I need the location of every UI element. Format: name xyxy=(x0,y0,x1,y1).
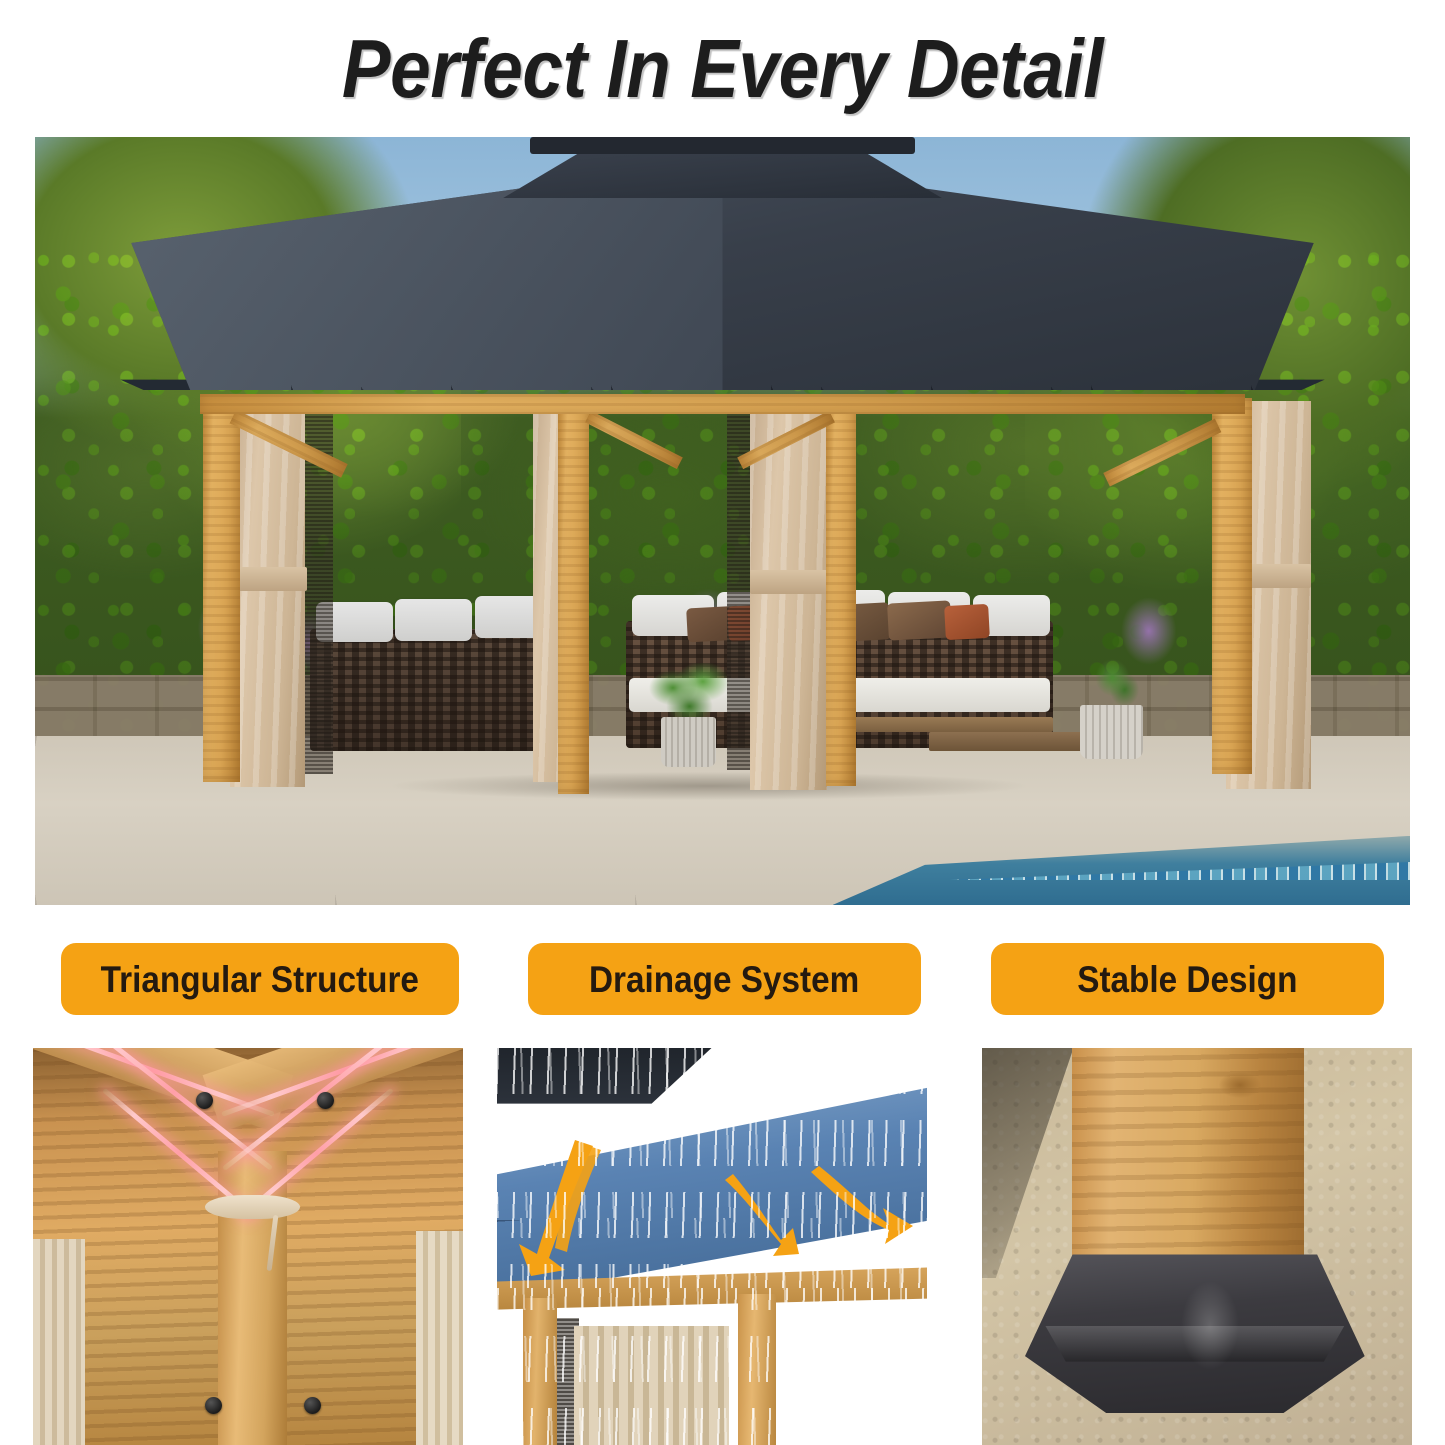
potted-plant-foliage xyxy=(648,663,731,724)
base-plate-highlight xyxy=(1171,1278,1248,1397)
fabric-tie-knot xyxy=(205,1195,300,1219)
accent-pillow xyxy=(887,601,952,641)
gazebo-post xyxy=(558,402,590,794)
curtain-tieback xyxy=(750,570,827,594)
gazebo-scene xyxy=(35,137,1410,905)
feature-badge-drainage-system[interactable]: Drainage System xyxy=(528,943,921,1015)
curtain-panel xyxy=(230,403,304,787)
bolt-fastener xyxy=(317,1092,334,1109)
page-header: Perfect In Every Detail xyxy=(0,0,1445,137)
potted-plant-foliage xyxy=(1086,652,1141,710)
accent-pillow xyxy=(944,604,990,640)
gazebo-post xyxy=(203,398,240,782)
concrete-planter xyxy=(1080,705,1143,759)
concrete-planter xyxy=(661,717,716,767)
feature-badge-label: Triangular Structure xyxy=(101,961,419,998)
feature-badge-row: Triangular Structure Drainage System Sta… xyxy=(0,943,1445,1019)
feature-image-stable-design xyxy=(982,1048,1412,1445)
curtain-tieback xyxy=(230,567,307,591)
water-flow-arrow-icon xyxy=(811,1166,913,1244)
header-beam xyxy=(200,394,1245,414)
curtain-edge xyxy=(33,1239,85,1445)
sofa-cushion xyxy=(395,599,472,640)
feature-badge-triangular-structure[interactable]: Triangular Structure xyxy=(61,943,459,1015)
curtain-panel xyxy=(750,406,827,790)
side-table xyxy=(929,732,1094,750)
curtain-edge xyxy=(416,1231,463,1445)
feature-badge-stable-design[interactable]: Stable Design xyxy=(991,943,1384,1015)
feature-badge-label: Stable Design xyxy=(1077,961,1297,998)
water-flow-arrow-icon xyxy=(725,1174,799,1256)
water-flow-arrows xyxy=(497,1048,927,1445)
feature-badge-label: Drainage System xyxy=(589,961,859,998)
gazebo-post xyxy=(1212,398,1252,774)
gazebo-post xyxy=(826,402,856,786)
wood-knot xyxy=(1219,1072,1261,1098)
bolt-fastener xyxy=(196,1092,213,1109)
feature-image-triangular-structure xyxy=(33,1048,463,1445)
hero-product-image xyxy=(35,137,1410,905)
feature-image-drainage-system xyxy=(497,1048,927,1445)
gazebo-ground-shadow xyxy=(283,767,1136,805)
feature-image-row xyxy=(0,1048,1445,1445)
page-title: Perfect In Every Detail xyxy=(342,27,1103,110)
roof-peak-cap xyxy=(530,137,915,154)
